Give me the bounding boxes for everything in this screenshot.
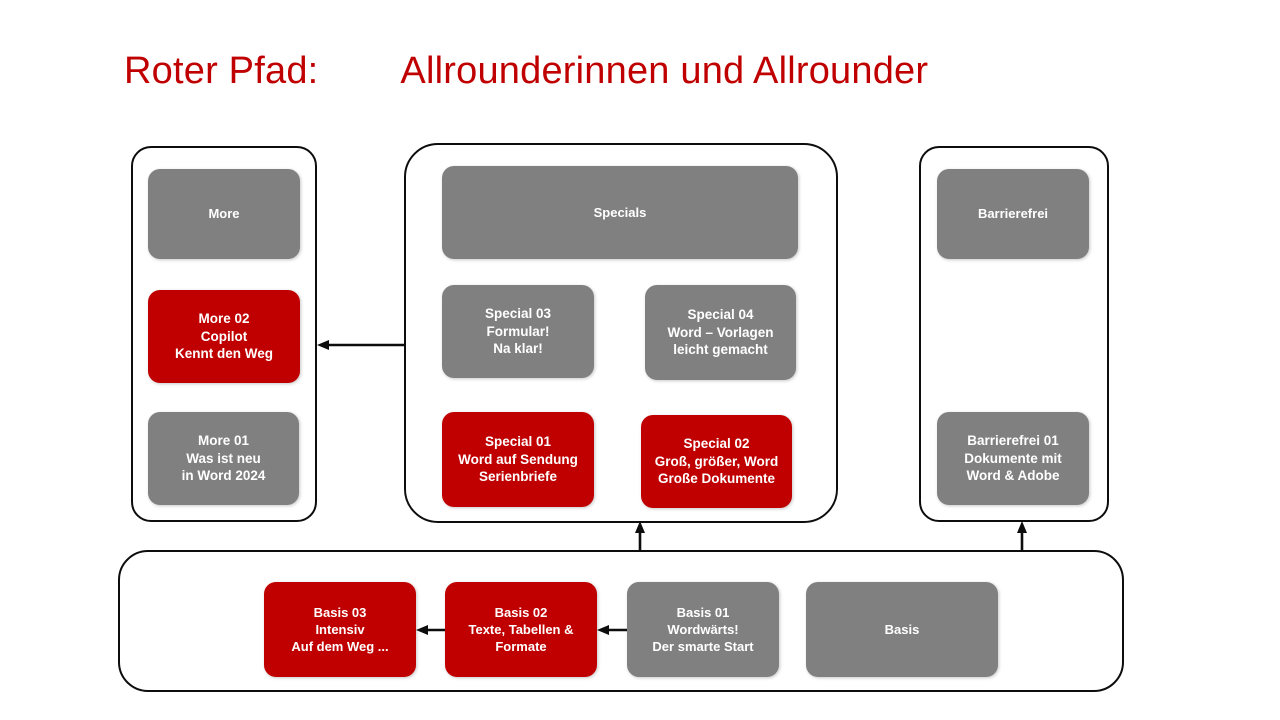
node-special-03-line2: Formular! bbox=[486, 323, 549, 341]
node-basis-02-line2: Texte, Tabellen & bbox=[469, 621, 574, 638]
node-special-03[interactable]: Special 03 Formular! Na klar! bbox=[442, 285, 594, 378]
node-special-01-line2: Word auf Sendung bbox=[458, 451, 578, 469]
node-barrierefrei-header[interactable]: Barrierefrei bbox=[937, 169, 1089, 259]
node-basis-02-line1: Basis 02 bbox=[495, 604, 548, 621]
node-special-03-line3: Na klar! bbox=[493, 340, 543, 358]
arrow-specials-to-more bbox=[317, 340, 404, 350]
node-basis-01[interactable]: Basis 01 Wordwärts! Der smarte Start bbox=[627, 582, 779, 677]
node-basis-01-line2: Wordwärts! bbox=[667, 621, 738, 638]
node-specials-header-line1: Specials bbox=[594, 204, 647, 221]
node-basis-03-line2: Intensiv bbox=[315, 621, 364, 638]
node-basis-header-line1: Basis bbox=[885, 621, 920, 638]
node-more-02[interactable]: More 02 Copilot Kennt den Weg bbox=[148, 290, 300, 383]
node-basis-02-line3: Formate bbox=[495, 638, 546, 655]
node-basis-03[interactable]: Basis 03 Intensiv Auf dem Weg ... bbox=[264, 582, 416, 677]
node-more-02-line3: Kennt den Weg bbox=[175, 345, 273, 363]
node-special-02[interactable]: Special 02 Groß, größer, Word Große Doku… bbox=[641, 415, 792, 508]
node-basis-01-line1: Basis 01 bbox=[677, 604, 730, 621]
node-barrierefrei-01[interactable]: Barrierefrei 01 Dokumente mit Word & Ado… bbox=[937, 412, 1089, 505]
node-special-02-line2: Groß, größer, Word bbox=[655, 453, 779, 471]
title-main-text: Roter Pfad: bbox=[124, 50, 318, 93]
node-special-02-line1: Special 02 bbox=[683, 435, 749, 453]
node-specials-header[interactable]: Specials bbox=[442, 166, 798, 259]
node-barrierefrei-01-line2: Dokumente mit bbox=[964, 450, 1062, 468]
node-barrierefrei-header-line1: Barrierefrei bbox=[978, 205, 1048, 222]
node-basis-02[interactable]: Basis 02 Texte, Tabellen & Formate bbox=[445, 582, 597, 677]
node-more-01-line3: in Word 2024 bbox=[182, 467, 266, 485]
title-subtitle-text: Allrounderinnen und Allrounder bbox=[400, 50, 928, 93]
node-more-01[interactable]: More 01 Was ist neu in Word 2024 bbox=[148, 412, 299, 505]
node-special-02-line3: Große Dokumente bbox=[658, 470, 775, 488]
node-basis-01-line3: Der smarte Start bbox=[652, 638, 753, 655]
node-more-02-line1: More 02 bbox=[198, 310, 249, 328]
node-more-01-line2: Was ist neu bbox=[186, 450, 261, 468]
node-special-01-line3: Serienbriefe bbox=[479, 468, 557, 486]
node-special-01-line1: Special 01 bbox=[485, 433, 551, 451]
node-basis-header[interactable]: Basis bbox=[806, 582, 998, 677]
page-title: Roter Pfad: Allrounderinnen und Allround… bbox=[124, 50, 928, 93]
node-more-header-line1: More bbox=[208, 205, 239, 222]
node-special-03-line1: Special 03 bbox=[485, 305, 551, 323]
arrow-basis-to-barrierefrei bbox=[1017, 521, 1027, 550]
node-barrierefrei-01-line3: Word & Adobe bbox=[967, 467, 1060, 485]
node-special-04[interactable]: Special 04 Word – Vorlagen leicht gemach… bbox=[645, 285, 796, 380]
slide-canvas: Roter Pfad: Allrounderinnen und Allround… bbox=[0, 0, 1280, 720]
node-more-02-line2: Copilot bbox=[201, 328, 248, 346]
node-more-header[interactable]: More bbox=[148, 169, 300, 259]
node-special-04-line3: leicht gemacht bbox=[673, 341, 768, 359]
arrow-basis-to-specials bbox=[635, 521, 645, 550]
node-barrierefrei-01-line1: Barrierefrei 01 bbox=[967, 432, 1059, 450]
node-basis-03-line1: Basis 03 bbox=[314, 604, 367, 621]
node-special-04-line1: Special 04 bbox=[687, 306, 753, 324]
node-special-04-line2: Word – Vorlagen bbox=[667, 324, 773, 342]
node-special-01[interactable]: Special 01 Word auf Sendung Serienbriefe bbox=[442, 412, 594, 507]
node-more-01-line1: More 01 bbox=[198, 432, 249, 450]
node-basis-03-line3: Auf dem Weg ... bbox=[291, 638, 388, 655]
